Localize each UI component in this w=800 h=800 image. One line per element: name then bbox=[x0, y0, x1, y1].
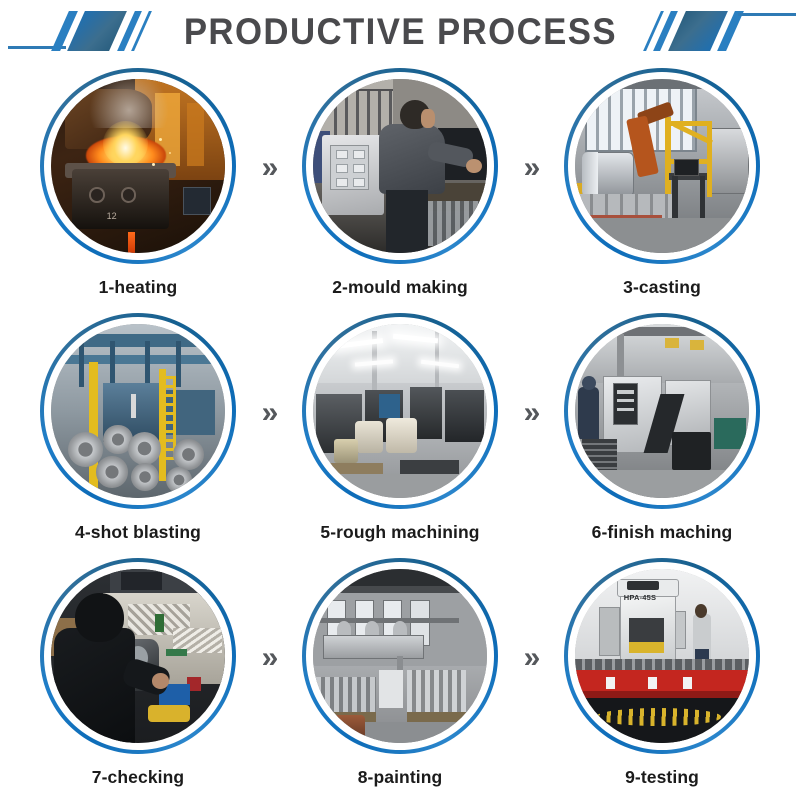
step-photo-painting bbox=[313, 569, 487, 743]
step-photo-finish-machining bbox=[575, 324, 749, 498]
process-row-2: 4-shot blasting » bbox=[0, 313, 800, 558]
flow-arrow-3: » bbox=[243, 313, 295, 513]
flow-arrow-2: » bbox=[505, 68, 557, 268]
process-step-8[interactable]: 8-painting bbox=[295, 558, 505, 788]
step-label-5: 5-rough machining bbox=[320, 522, 479, 543]
step-label-3: 3-casting bbox=[623, 277, 701, 298]
double-chevron-right-icon: » bbox=[524, 153, 539, 183]
step-photo-mould-making bbox=[313, 79, 487, 253]
double-chevron-right-icon: » bbox=[262, 153, 277, 183]
flow-arrow-6: » bbox=[505, 558, 557, 758]
header-decoration-left bbox=[0, 11, 154, 51]
step-photo-circle-9[interactable]: HPA-45S bbox=[564, 558, 760, 754]
step-photo-rough-machining bbox=[313, 324, 487, 498]
deco-line-right bbox=[738, 13, 796, 16]
step-photo-casting bbox=[575, 79, 749, 253]
step-photo-circle-3[interactable] bbox=[564, 68, 760, 264]
flow-arrow-5: » bbox=[243, 558, 295, 758]
process-step-3[interactable]: 3-casting bbox=[557, 68, 767, 298]
step-label-2: 2-mould making bbox=[332, 277, 468, 298]
process-step-2[interactable]: 2-mould making bbox=[295, 68, 505, 298]
step-photo-testing: HPA-45S bbox=[575, 569, 749, 743]
header-banner: PRODUCTIVE PROCESS bbox=[0, 0, 800, 62]
process-row-3: 7-checking » bbox=[0, 558, 800, 800]
step-photo-circle-5[interactable] bbox=[302, 313, 498, 509]
process-step-5[interactable]: 5-rough machining bbox=[295, 313, 505, 543]
deco-bar-thick-left bbox=[67, 11, 127, 51]
flow-arrow-4: » bbox=[505, 313, 557, 513]
mould-number-text: 12 bbox=[107, 211, 117, 221]
step-label-4: 4-shot blasting bbox=[75, 522, 201, 543]
flow-arrow-1: » bbox=[243, 68, 295, 268]
double-chevron-right-icon: » bbox=[524, 643, 539, 673]
double-chevron-right-icon: » bbox=[524, 398, 539, 428]
step-label-1: 1-heating bbox=[99, 277, 178, 298]
step-photo-checking bbox=[51, 569, 225, 743]
step-photo-circle-8[interactable] bbox=[302, 558, 498, 754]
step-label-8: 8-painting bbox=[358, 767, 443, 788]
step-photo-circle-1[interactable]: 12 bbox=[40, 68, 236, 264]
productive-process-infographic: PRODUCTIVE PROCESS bbox=[0, 0, 800, 800]
double-chevron-right-icon: » bbox=[262, 398, 277, 428]
press-model-text: HPA-45S bbox=[624, 593, 657, 602]
page-title: PRODUCTIVE PROCESS bbox=[170, 13, 629, 50]
step-label-6: 6-finish maching bbox=[592, 522, 733, 543]
step-photo-circle-2[interactable] bbox=[302, 68, 498, 264]
process-step-4[interactable]: 4-shot blasting bbox=[33, 313, 243, 543]
header-decoration-right bbox=[646, 11, 800, 51]
process-row-1: 12 1-heating » bbox=[0, 68, 800, 313]
double-chevron-right-icon: » bbox=[262, 643, 277, 673]
step-photo-circle-4[interactable] bbox=[40, 313, 236, 509]
process-step-9[interactable]: HPA-45S 9-testing bbox=[557, 558, 767, 788]
step-photo-shot-blasting bbox=[51, 324, 225, 498]
process-step-1[interactable]: 12 1-heating bbox=[33, 68, 243, 298]
process-step-7[interactable]: 7-checking bbox=[33, 558, 243, 788]
process-steps-grid: 12 1-heating » bbox=[0, 62, 800, 800]
step-label-9: 9-testing bbox=[625, 767, 699, 788]
step-photo-circle-7[interactable] bbox=[40, 558, 236, 754]
step-photo-heating: 12 bbox=[51, 79, 225, 253]
step-photo-circle-6[interactable] bbox=[564, 313, 760, 509]
process-step-6[interactable]: 6-finish maching bbox=[557, 313, 767, 543]
step-label-7: 7-checking bbox=[92, 767, 184, 788]
